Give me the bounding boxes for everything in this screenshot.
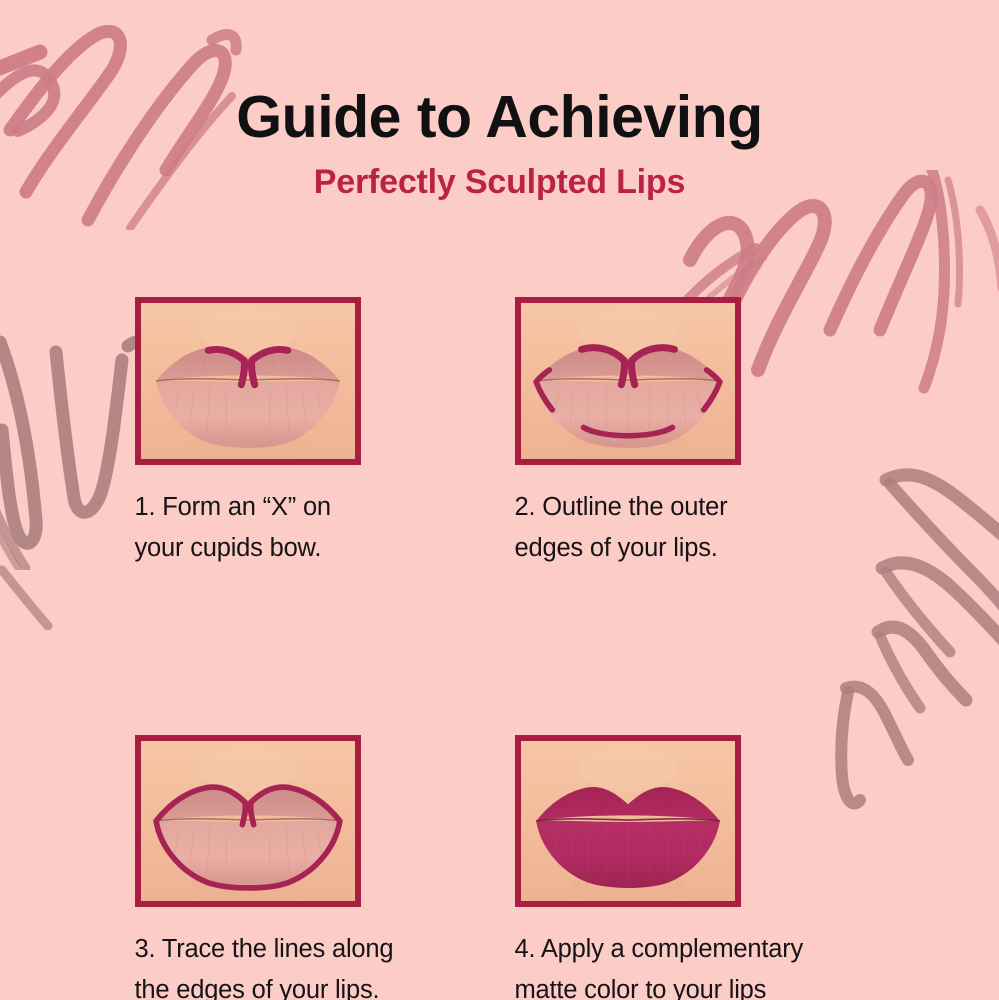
lips-step-3-trace-lines — [141, 741, 355, 901]
page-subtitle: Perfectly Sculpted Lips — [0, 165, 999, 199]
lips-step-2-outline-outer-edges — [521, 303, 735, 459]
lips-step-4-apply-matte-color — [521, 741, 735, 901]
lips-step-1-cupids-bow-x — [141, 303, 355, 459]
page-title: Guide to Achieving — [0, 88, 999, 147]
step-card-2: 2. Outline the outer edges of your lips. — [500, 297, 890, 570]
step-1-image-frame — [135, 297, 361, 465]
step-card-3: 3. Trace the lines along the edges of yo… — [110, 735, 500, 1000]
step-1-caption: 1. Form an “X” on your cupids bow. — [135, 487, 465, 570]
poster-header: Guide to Achieving Perfectly Sculpted Li… — [0, 0, 999, 199]
steps-grid: 1. Form an “X” on your cupids bow. — [0, 297, 999, 1000]
step-3-image-frame — [135, 735, 361, 907]
step-card-4: 4. Apply a complementary matte color to … — [500, 735, 890, 1000]
step-2-caption: 2. Outline the outer edges of your lips. — [515, 487, 845, 570]
step-4-image-frame — [515, 735, 741, 907]
step-card-1: 1. Form an “X” on your cupids bow. — [110, 297, 500, 570]
poster-canvas: Guide to Achieving Perfectly Sculpted Li… — [0, 0, 999, 1000]
step-3-caption: 3. Trace the lines along the edges of yo… — [135, 929, 465, 1000]
step-2-image-frame — [515, 297, 741, 465]
step-4-caption: 4. Apply a complementary matte color to … — [515, 929, 845, 1000]
